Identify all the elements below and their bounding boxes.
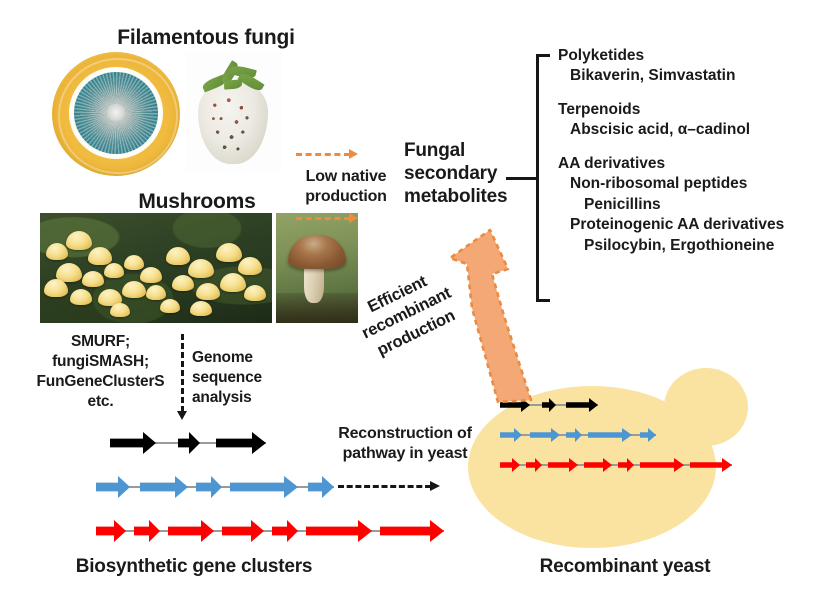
gene-arrow: [566, 428, 582, 442]
genome-sequence-analysis-arrow: [177, 334, 189, 420]
gene-arrow: [140, 476, 188, 498]
gene-arrow: [178, 432, 200, 454]
gene-arrow: [584, 458, 612, 472]
genome-sequence-analysis-label: Genome sequence analysis: [192, 348, 284, 407]
gene-arrow: [272, 520, 298, 542]
bracket-stem: [506, 177, 538, 180]
gene-arrow: [618, 458, 634, 472]
mushroom-cap: [66, 231, 92, 250]
reconstruction-of-pathway-label: Reconstruction of pathway in yeast: [330, 424, 480, 464]
moldy-strawberry-photo: [186, 52, 282, 172]
metabolite-examples: Psilocybin, Ergothioneine: [558, 236, 810, 256]
gene-arrow: [222, 520, 264, 542]
mushroom-cap: [216, 243, 242, 262]
gene-arrow: [308, 476, 334, 498]
gene-cluster-track: [500, 428, 656, 442]
bioinformatics-tools-label: SMURF; fungiSMASH; FunGeneClusterS etc.: [28, 332, 173, 413]
mushroom-cluster-photo: [40, 213, 272, 323]
metabolite-group-terpenoids: Terpenoids Abscisic acid, α–cadinol: [558, 100, 810, 141]
mushroom-cap: [88, 247, 112, 265]
mushroom-cap: [188, 259, 214, 278]
mushrooms-title: Mushrooms: [92, 190, 302, 215]
gene-arrow: [566, 398, 598, 412]
mushroom-cap: [46, 243, 68, 260]
tool-name: FunGeneClusterS: [28, 372, 173, 392]
arrow-shaft: [296, 217, 350, 220]
gene-arrow: [96, 476, 130, 498]
gene-arrow: [548, 458, 578, 472]
gene-arrow: [640, 428, 656, 442]
mushroom-cap: [70, 289, 92, 305]
mushroom-cap: [172, 275, 194, 291]
mushroom-cap: [220, 273, 246, 292]
gene-arrow: [526, 458, 542, 472]
tool-name: fungiSMASH;: [28, 352, 173, 372]
mushroom-cap: [166, 247, 190, 265]
strawberry-calyx: [200, 66, 266, 96]
metabolite-class-name: Polyketides: [558, 46, 810, 66]
gene-arrow: [500, 428, 522, 442]
metabolite-subclass-name: Non-ribosomal peptides: [558, 174, 810, 194]
low-native-production-label: Low native production: [292, 167, 400, 207]
gene-arrow: [500, 458, 520, 472]
mushroom-cap: [238, 257, 262, 275]
arrow-shaft: [338, 485, 431, 488]
recombinant-yeast-title: Recombinant yeast: [500, 556, 750, 578]
gene-arrow: [380, 520, 444, 542]
metabolite-subclass-name: Proteinogenic AA derivatives: [558, 215, 810, 235]
tool-name: SMURF;: [28, 332, 173, 352]
metabolite-class-name: Terpenoids: [558, 100, 810, 120]
yeast-gene-clusters-diagram: [500, 398, 750, 488]
mushroom-cap: [190, 301, 212, 316]
gene-arrow: [640, 458, 684, 472]
metabolite-list: Polyketides Bikaverin, Simvastatin Terpe…: [558, 46, 810, 269]
fungal-secondary-metabolites-heading: Fungal secondary metabolites: [404, 140, 524, 208]
mushroom-stem: [304, 263, 324, 303]
gene-arrow: [588, 428, 632, 442]
gene-arrow: [306, 520, 372, 542]
metabolite-group-polyketides: Polyketides Bikaverin, Simvastatin: [558, 46, 810, 87]
mushroom-cap: [140, 267, 162, 283]
arrow-shaft: [181, 334, 184, 412]
gene-arrow: [196, 476, 222, 498]
mushroom-cap: [122, 281, 146, 298]
mushroom-cap: [124, 255, 144, 270]
arrow-head: [430, 481, 440, 491]
gene-cluster-track: [110, 432, 266, 454]
gene-arrow: [96, 520, 126, 542]
mushroom-cap: [110, 303, 130, 317]
petri-dish-photo: [52, 52, 180, 176]
low-native-production-arrow-top: [296, 148, 358, 160]
biosynthetic-gene-clusters-title: Biosynthetic gene clusters: [44, 556, 344, 578]
arrow-shaft: [296, 153, 350, 156]
mushroom-cap: [146, 285, 166, 300]
gene-arrow: [690, 458, 732, 472]
metabolite-examples: Abscisic acid, α–cadinol: [558, 120, 810, 140]
arrow-head: [349, 149, 358, 159]
mushroom-cap: [160, 299, 180, 313]
metabolite-class-name: AA derivatives: [558, 154, 810, 174]
bolete-mushroom-photo: [276, 213, 358, 323]
gene-cluster-track: [96, 476, 334, 498]
gene-arrow: [216, 432, 266, 454]
gene-cluster-track: [96, 520, 444, 542]
gene-arrow: [110, 432, 156, 454]
arrow-head: [177, 411, 187, 420]
gene-arrow: [168, 520, 214, 542]
mushroom-cap: [244, 285, 266, 301]
gene-cluster-track: [500, 458, 732, 472]
gene-arrow: [134, 520, 160, 542]
gene-arrow: [530, 428, 560, 442]
metabolite-examples: Bikaverin, Simvastatin: [558, 66, 810, 86]
bracket-top-tick: [536, 54, 550, 57]
reconstruction-of-pathway-arrow: [338, 480, 440, 492]
arrow-head: [349, 213, 358, 223]
filamentous-fungi-title: Filamentous fungi: [86, 26, 326, 51]
tool-name: etc.: [28, 392, 173, 412]
mushroom-cap: [82, 271, 104, 287]
mushroom-cap: [104, 263, 124, 278]
mushroom-cap: [288, 235, 346, 269]
mushroom-cap: [44, 279, 68, 297]
mushroom-cap: [196, 283, 220, 300]
metabolite-examples: Penicillins: [558, 195, 810, 215]
gene-arrow: [230, 476, 298, 498]
metabolite-group-aa-derivatives: AA derivatives Non-ribosomal peptides Pe…: [558, 154, 810, 256]
low-native-production-arrow-bottom: [296, 212, 358, 224]
